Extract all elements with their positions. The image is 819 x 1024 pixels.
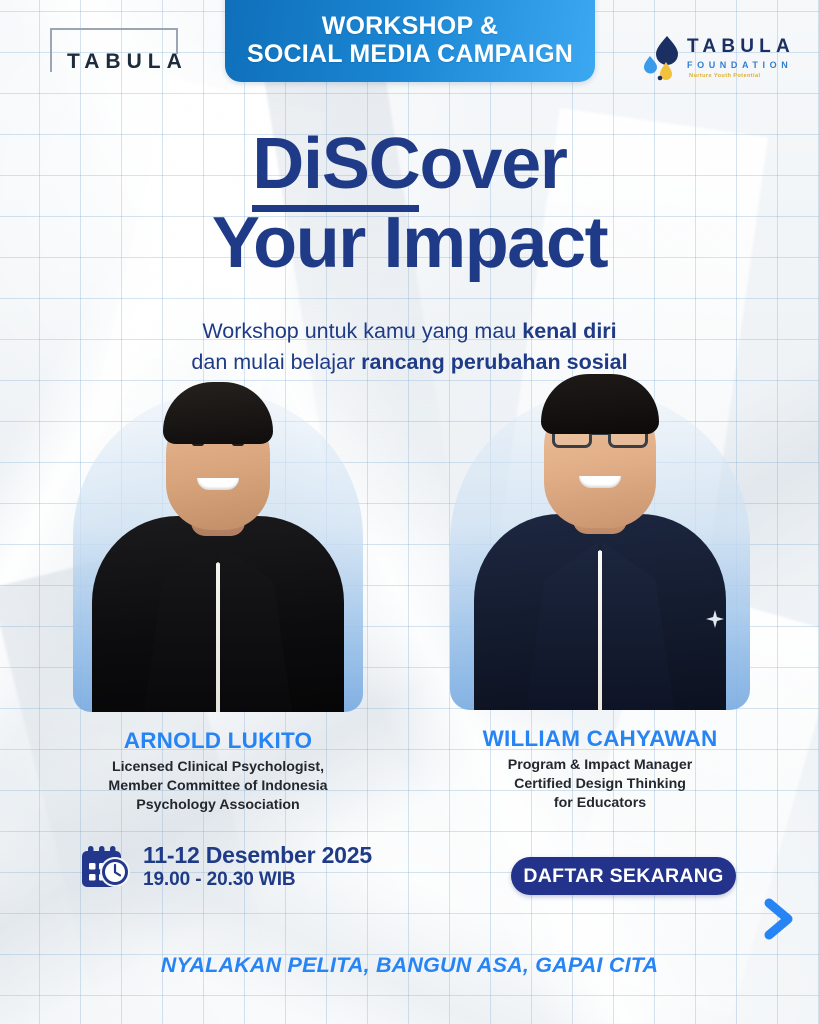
photo-smile <box>579 476 621 488</box>
photo-smile <box>197 478 239 490</box>
register-button[interactable]: DAFTAR SEKARANG <box>511 857 736 895</box>
poster-tagline: NYALAKAN PELITA, BANGUN ASA, GAPAI CITA <box>0 953 819 978</box>
speaker-card-arnold: ARNOLD LUKITO Licensed Clinical Psycholo… <box>48 392 388 815</box>
droplet-logo-icon <box>641 34 685 82</box>
logo-right-name: TABULA <box>687 37 795 56</box>
schedule-date: 11-12 Desember 2025 <box>143 843 372 869</box>
logo-right-text: TABULA FOUNDATION Nurture Youth Potentia… <box>687 37 795 80</box>
speaker-name: WILLIAM CAHYAWAN <box>430 726 770 752</box>
event-type-banner: WORKSHOP & SOCIAL MEDIA CAMPAIGN <box>225 0 595 82</box>
sparkle-icon <box>706 610 724 628</box>
subtitle-2-bold: rancang perubahan sosial <box>361 350 627 374</box>
subtitle-2-normal: dan mulai belajar <box>191 350 361 374</box>
logo-left-label: TABULA <box>67 50 188 74</box>
poster-header: TABULA WORKSHOP & SOCIAL MEDIA CAMPAIGN … <box>0 0 819 100</box>
speaker-card-william: WILLIAM CAHYAWAN Program & Impact Manage… <box>430 392 770 813</box>
subtitle-line-2: dan mulai belajar rancang perubahan sosi… <box>0 347 819 378</box>
headline-disc-emphasis: DiSC <box>252 124 419 212</box>
speakers-section: ARNOLD LUKITO Licensed Clinical Psycholo… <box>0 392 819 812</box>
schedule-time: 19.00 - 20.30 WIB <box>143 869 372 892</box>
speaker-role-line: Psychology Association <box>48 796 388 815</box>
headline-line-2: Your Impact <box>0 206 819 282</box>
speaker-photo-frame <box>450 392 750 710</box>
tabula-foundation-logo: TABULA FOUNDATION Nurture Youth Potentia… <box>641 34 791 84</box>
logo-right-sub: FOUNDATION <box>687 61 795 70</box>
speaker-role: Program & Impact Manager Certified Desig… <box>430 756 770 813</box>
page-subtitle: Workshop untuk kamu yang mau kenal diri … <box>0 316 819 377</box>
banner-line-2: SOCIAL MEDIA CAMPAIGN <box>247 40 573 69</box>
subtitle-1-normal: Workshop untuk kamu yang mau <box>202 319 522 343</box>
speaker-name: ARNOLD LUKITO <box>48 728 388 754</box>
headline-disc-rest: over <box>419 124 566 204</box>
speaker-role-line: for Educators <box>430 794 770 813</box>
speaker-role-line: Program & Impact Manager <box>430 756 770 775</box>
banner-line-1: WORKSHOP & <box>322 12 499 41</box>
speaker-photo-william <box>450 392 750 710</box>
subtitle-1-bold: kenal diri <box>522 319 616 343</box>
speaker-photo-arnold <box>73 392 363 712</box>
speaker-photo-frame <box>73 392 363 712</box>
chevron-right-icon[interactable] <box>758 896 798 942</box>
tabula-wordmark-logo: TABULA <box>50 28 176 78</box>
speaker-role-line: Licensed Clinical Psychologist, <box>48 758 388 777</box>
schedule-block: 11-12 Desember 2025 19.00 - 20.30 WIB <box>80 843 372 892</box>
headline-line-1: DiSCover <box>0 128 819 200</box>
logo-right-tagline: Nurture Youth Potential <box>689 74 795 80</box>
speaker-role: Licensed Clinical Psychologist, Member C… <box>48 758 388 815</box>
page-title: DiSCover Your Impact <box>0 128 819 282</box>
subtitle-line-1: Workshop untuk kamu yang mau kenal diri <box>0 316 819 347</box>
photo-hair <box>163 382 273 444</box>
poster-root: TABULA WORKSHOP & SOCIAL MEDIA CAMPAIGN … <box>0 0 819 1024</box>
speaker-role-line: Member Committee of Indonesia <box>48 777 388 796</box>
schedule-text: 11-12 Desember 2025 19.00 - 20.30 WIB <box>143 843 372 892</box>
speaker-role-line: Certified Design Thinking <box>430 775 770 794</box>
calendar-clock-icon <box>80 844 130 890</box>
